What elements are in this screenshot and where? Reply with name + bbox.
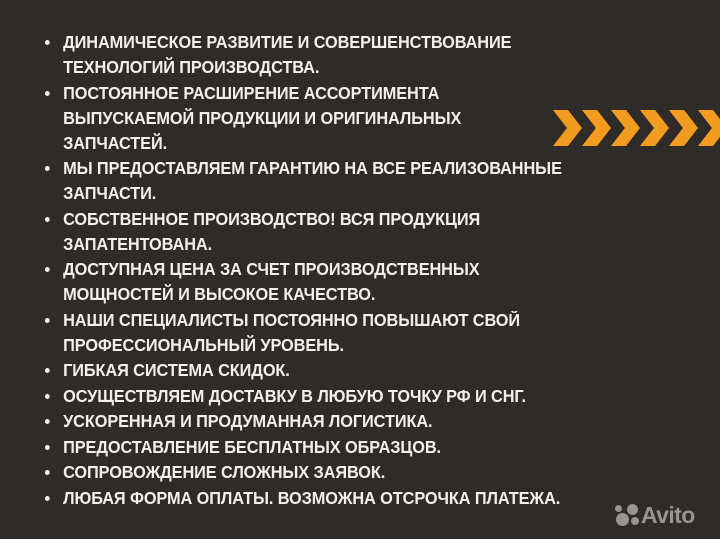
list-item: ПОСТОЯННОЕ РАСШИРЕНИЕ АССОРТИМЕНТА ВЫПУС… [44,81,564,156]
list-item: СОБСТВЕННОЕ ПРОИЗВОДСТВО! ВСЯ ПРОДУКЦИЯ … [44,207,564,257]
list-item-text: ДИНАМИЧЕСКОЕ РАЗВИТИЕ И СОВЕРШЕНСТВОВАНИ… [63,33,511,77]
list-item-text: ЛЮБАЯ ФОРМА ОПЛАТЫ. ВОЗМОЖНА ОТСРОЧКА ПЛ… [63,489,560,508]
list-item-text: ДОСТУПНАЯ ЦЕНА ЗА СЧЕТ ПРОИЗВОДСТВЕННЫХ … [63,260,479,304]
bullet-icon [45,368,50,373]
avito-brand-text: Avito [641,504,695,527]
list-item-text: НАШИ СПЕЦИАЛИСТЫ ПОСТОЯННО ПОВЫШАЮТ СВОЙ… [63,311,520,355]
chevron-right-icon [698,110,720,146]
avito-dots-icon [615,504,639,527]
poster-canvas: ДИНАМИЧЕСКОЕ РАЗВИТИЕ И СОВЕРШЕНСТВОВАНИ… [0,0,720,539]
bullet-icon [45,496,50,501]
list-item: МЫ ПРЕДОСТАВЛЯЕМ ГАРАНТИЮ НА ВСЕ РЕАЛИЗО… [44,156,564,206]
list-item: ДИНАМИЧЕСКОЕ РАЗВИТИЕ И СОВЕРШЕНСТВОВАНИ… [44,30,564,80]
list-item-text: ПРЕДОСТАВЛЕНИЕ БЕСПЛАТНЫХ ОБРАЗЦОВ. [63,438,441,457]
bullet-icon [45,267,50,272]
list-item: ОСУЩЕСТВЛЯЕМ ДОСТАВКУ В ЛЮБУЮ ТОЧКУ РФ И… [44,384,564,409]
avito-watermark: Avito [615,500,707,530]
list-item: ЛЮБАЯ ФОРМА ОПЛАТЫ. ВОЗМОЖНА ОТСРОЧКА ПЛ… [44,486,564,511]
bullet-icon [45,470,50,475]
list-item-text: УСКОРЕННАЯ И ПРОДУМАННАЯ ЛОГИСТИКА. [63,412,432,431]
list-item-text: ПОСТОЯННОЕ РАСШИРЕНИЕ АССОРТИМЕНТА ВЫПУС… [63,84,461,153]
list-item: УСКОРЕННАЯ И ПРОДУМАННАЯ ЛОГИСТИКА. [44,409,564,434]
benefits-list: ДИНАМИЧЕСКОЕ РАЗВИТИЕ И СОВЕРШЕНСТВОВАНИ… [44,30,589,511]
list-item-text: ГИБКАЯ СИСТЕМА СКИДОК. [63,361,290,380]
list-item-text: ОСУЩЕСТВЛЯЕМ ДОСТАВКУ В ЛЮБУЮ ТОЧКУ РФ И… [63,387,526,406]
bullet-icon [45,445,50,450]
list-item: НАШИ СПЕЦИАЛИСТЫ ПОСТОЯННО ПОВЫШАЮТ СВОЙ… [44,308,564,358]
list-item: ГИБКАЯ СИСТЕМА СКИДОК. [44,358,564,383]
bullet-icon [45,217,50,222]
bullet-icon [45,166,50,171]
chevron-right-icon [669,110,698,146]
avito-dot-bottom-left [616,513,629,526]
list-item: СОПРОВОЖДЕНИЕ СЛОЖНЫХ ЗАЯВОК. [44,460,564,485]
bullet-icon [45,40,50,45]
bullet-icon [45,318,50,323]
list-item-text: СОБСТВЕННОЕ ПРОИЗВОДСТВО! ВСЯ ПРОДУКЦИЯ … [63,210,480,254]
chevron-right-icon [611,110,640,146]
list-item: ДОСТУПНАЯ ЦЕНА ЗА СЧЕТ ПРОИЗВОДСТВЕННЫХ … [44,257,564,307]
avito-dot-top-left [615,505,622,512]
list-item-text: СОПРОВОЖДЕНИЕ СЛОЖНЫХ ЗАЯВОК. [63,463,385,482]
list-item: ПРЕДОСТАВЛЕНИЕ БЕСПЛАТНЫХ ОБРАЗЦОВ. [44,435,564,460]
bullet-icon [45,419,50,424]
chevron-right-icon [640,110,669,146]
bullet-icon [45,91,50,96]
bullet-icon [45,394,50,399]
list-item-text: МЫ ПРЕДОСТАВЛЯЕМ ГАРАНТИЮ НА ВСЕ РЕАЛИЗО… [63,159,562,203]
avito-dot-bottom-right [631,517,639,525]
avito-dot-top-right [627,504,638,515]
